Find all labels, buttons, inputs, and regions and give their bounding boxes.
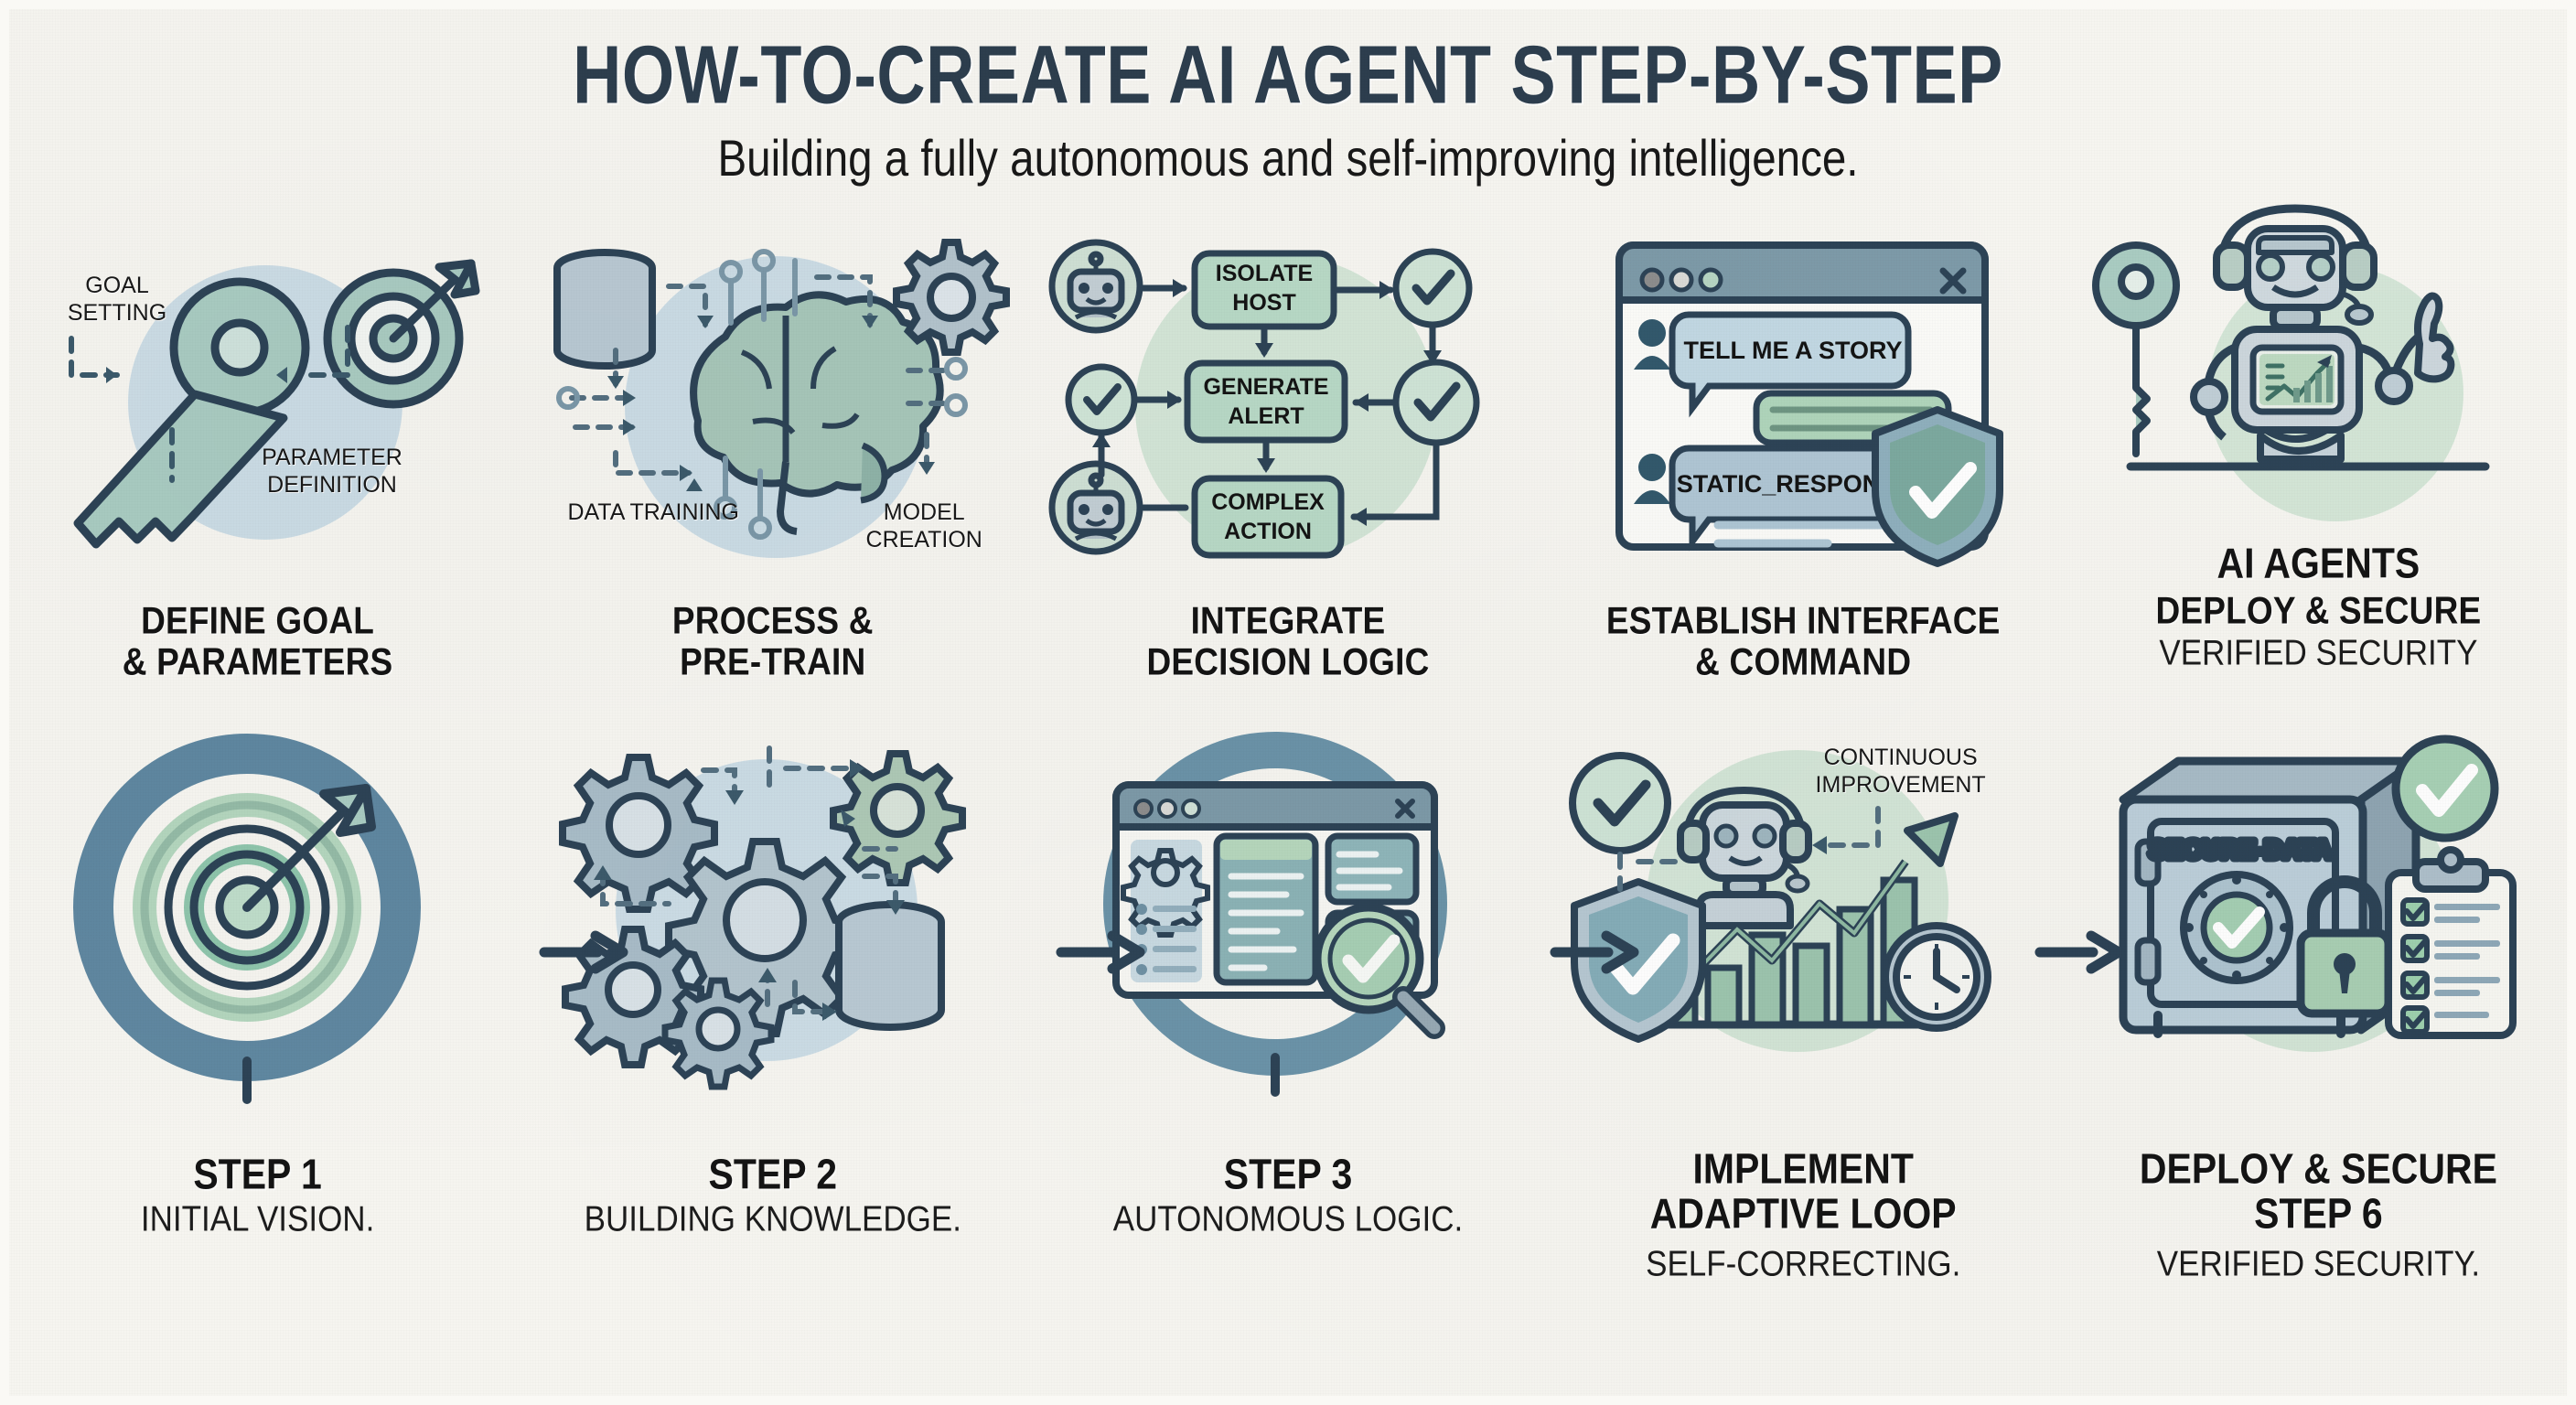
flow-node-label: ACTION [1224, 519, 1312, 544]
panel-decision-logic[interactable]: ISOLATE HOST GENERATE ALERT COMPLEX ACTI… [1030, 229, 1545, 741]
define-goal-art: GOAL SETTING PARAMETER DEFINITION [0, 229, 515, 595]
panel-heading-line2: & COMMAND [1606, 638, 2001, 685]
panel-define-goal[interactable]: GOAL SETTING PARAMETER DEFINITION DEFINE… [0, 229, 515, 741]
step-number: STEP 2 [585, 1150, 961, 1200]
clipboard-check-icon [2388, 850, 2513, 1035]
process-pretrain-labels: PROCESS & PRE-TRAIN [672, 600, 874, 682]
robot-icon [1052, 464, 1140, 552]
top-row: GOAL SETTING PARAMETER DEFINITION DEFINE… [0, 229, 2576, 741]
arrow-right-icon [1061, 931, 1149, 973]
panel-ai-agents[interactable]: AI AGENTS DEPLOY & SECURE VERIFIED SECUR… [2061, 229, 2576, 741]
arrow-right-icon [544, 931, 632, 973]
decision-logic-art: ISOLATE HOST GENERATE ALERT COMPLEX ACTI… [1030, 229, 1545, 595]
check-circle-icon [2396, 739, 2495, 838]
step-2-labels: STEP 2 BUILDING KNOWLEDGE. [585, 1153, 961, 1239]
annotation-parameter-definition: PARAMETER DEFINITION [227, 445, 437, 499]
decision-logic-labels: INTEGRATE DECISION LOGIC [1146, 600, 1429, 682]
robot-icon [1052, 242, 1140, 330]
panel-step-4[interactable]: CONTINUOUS IMPROVEMENT IMPLEMENT ADAPTIV… [1546, 759, 2061, 1308]
panel-step-3[interactable]: STEP 3 AUTONOMOUS LOGIC. [1030, 759, 1545, 1308]
panel-heading-line2: ADAPTIVE LOOP [1646, 1189, 1960, 1239]
step-1-labels: STEP 1 INITIAL VISION. [141, 1153, 374, 1239]
key-icon [2096, 245, 2176, 454]
bottom-row: STEP 1 INITIAL VISION. [0, 759, 2576, 1308]
panel-step-1[interactable]: STEP 1 INITIAL VISION. [0, 759, 515, 1308]
step-caption: SELF-CORRECTING. [1646, 1242, 1960, 1287]
panel-heading-line1: INTEGRATE [1146, 597, 1429, 644]
check-circle-icon [1396, 362, 1476, 443]
process-pretrain-art: DATA TRAINING MODEL CREATION [515, 229, 1030, 595]
connector-arrow-3 [1555, 931, 1643, 973]
ai-agents-labels: AI AGENTS DEPLOY & SECURE VERIFIED SECUR… [2155, 542, 2481, 673]
establish-interface-labels: ESTABLISH INTERFACE & COMMAND [1606, 600, 2001, 682]
panel-heading-line2: PRE-TRAIN [672, 638, 874, 685]
panel-heading-line1: DEPLOY & SECURE [2155, 587, 2481, 634]
panel-sub-label: VERIFIED SECURITY [2155, 631, 2481, 676]
step-caption: INITIAL VISION. [141, 1197, 374, 1242]
panel-title-ai-agents: AI AGENTS [2155, 539, 2481, 589]
annotation-data-training: DATA TRAINING [566, 499, 740, 527]
step-1-art [0, 759, 515, 1143]
flow-node-label: ISOLATE [1216, 261, 1313, 286]
step-6-art: SECURE-DATA [2061, 759, 2576, 1143]
clock-icon [1885, 926, 1988, 1028]
establish-interface-art: TELL ME A STORY STATIC_RESPONSE [1546, 229, 2061, 595]
step-number: STEP 6 [2140, 1189, 2497, 1239]
flow-node-label: COMPLEX [1212, 489, 1326, 515]
gear-icon [896, 242, 1006, 352]
panel-heading-line1: ESTABLISH INTERFACE [1606, 597, 2001, 644]
check-circle-icon [1068, 367, 1134, 433]
flow-node-label: ALERT [1229, 403, 1304, 429]
panel-establish-interface[interactable]: TELL ME A STORY STATIC_RESPONSE [1546, 229, 2061, 741]
connector-arrow-1 [544, 931, 632, 973]
annotation-model-creation: MODEL CREATION [837, 499, 1011, 553]
define-goal-labels: DEFINE GOAL & PARAMETERS [123, 600, 393, 682]
step-number: STEP 3 [1113, 1150, 1463, 1200]
check-circle-icon [1572, 756, 1668, 851]
arrow-right-icon [1555, 931, 1643, 973]
panel-heading-line2: DECISION LOGIC [1146, 638, 1429, 685]
shield-check-icon [1875, 410, 2000, 563]
brain-icon [693, 295, 940, 531]
panel-heading-line1: IMPLEMENT [1646, 1144, 1960, 1195]
annotation-goal-setting: GOAL SETTING [35, 273, 199, 327]
step-4-labels: IMPLEMENT ADAPTIVE LOOP SELF-CORRECTING. [1646, 1147, 1960, 1284]
step-caption: BUILDING KNOWLEDGE. [585, 1197, 961, 1242]
gear-icon [665, 981, 771, 1087]
connector-arrow-4 [2040, 931, 2128, 973]
step-number: STEP 1 [141, 1150, 374, 1200]
step-caption: AUTONOMOUS LOGIC. [1113, 1197, 1463, 1242]
panel-heading-line1: DEPLOY & SECURE [2140, 1144, 2497, 1195]
panel-step-6[interactable]: SECURE-DATA [2061, 759, 2576, 1308]
flow-node-label: HOST [1233, 290, 1296, 316]
flow-node-label: GENERATE [1204, 374, 1329, 400]
connector-arrow-2 [1061, 931, 1149, 973]
panel-step-2[interactable]: STEP 2 BUILDING KNOWLEDGE. [515, 759, 1030, 1308]
arrowhead-icon [1812, 836, 1827, 854]
safe-label: SECURE-DATA [2149, 835, 2332, 863]
step-3-labels: STEP 3 AUTONOMOUS LOGIC. [1113, 1153, 1463, 1239]
panel-heading-line2: & PARAMETERS [123, 638, 393, 685]
panel-process-pretrain[interactable]: DATA TRAINING MODEL CREATION PROCESS & P… [515, 229, 1030, 741]
database-icon [557, 252, 652, 366]
pointing-hand-icon [2418, 295, 2451, 379]
check-circle-icon [1396, 252, 1469, 325]
step-caption: VERIFIED SECURITY. [2140, 1242, 2497, 1287]
panel-heading-line1: DEFINE GOAL [123, 597, 393, 644]
step-6-labels: DEPLOY & SECURE STEP 6 VERIFIED SECURITY… [2140, 1147, 2497, 1284]
annotation-continuous-improvement: CONTINUOUS IMPROVEMENT [1800, 745, 2002, 799]
arrow-right-icon [2040, 931, 2128, 973]
ai-agents-art [2061, 229, 2576, 540]
panel-heading-line1: PROCESS & [672, 597, 874, 644]
page-title: HOW-TO-CREATE AI AGENT STEP-BY-STEP [38, 35, 2538, 117]
chat-message-user: TELL ME A STORY [1683, 337, 1902, 364]
database-icon [839, 905, 941, 1027]
robot-headset-icon [2194, 209, 2451, 459]
page-subtitle: Building a fully autonomous and self-imp… [38, 130, 2538, 188]
